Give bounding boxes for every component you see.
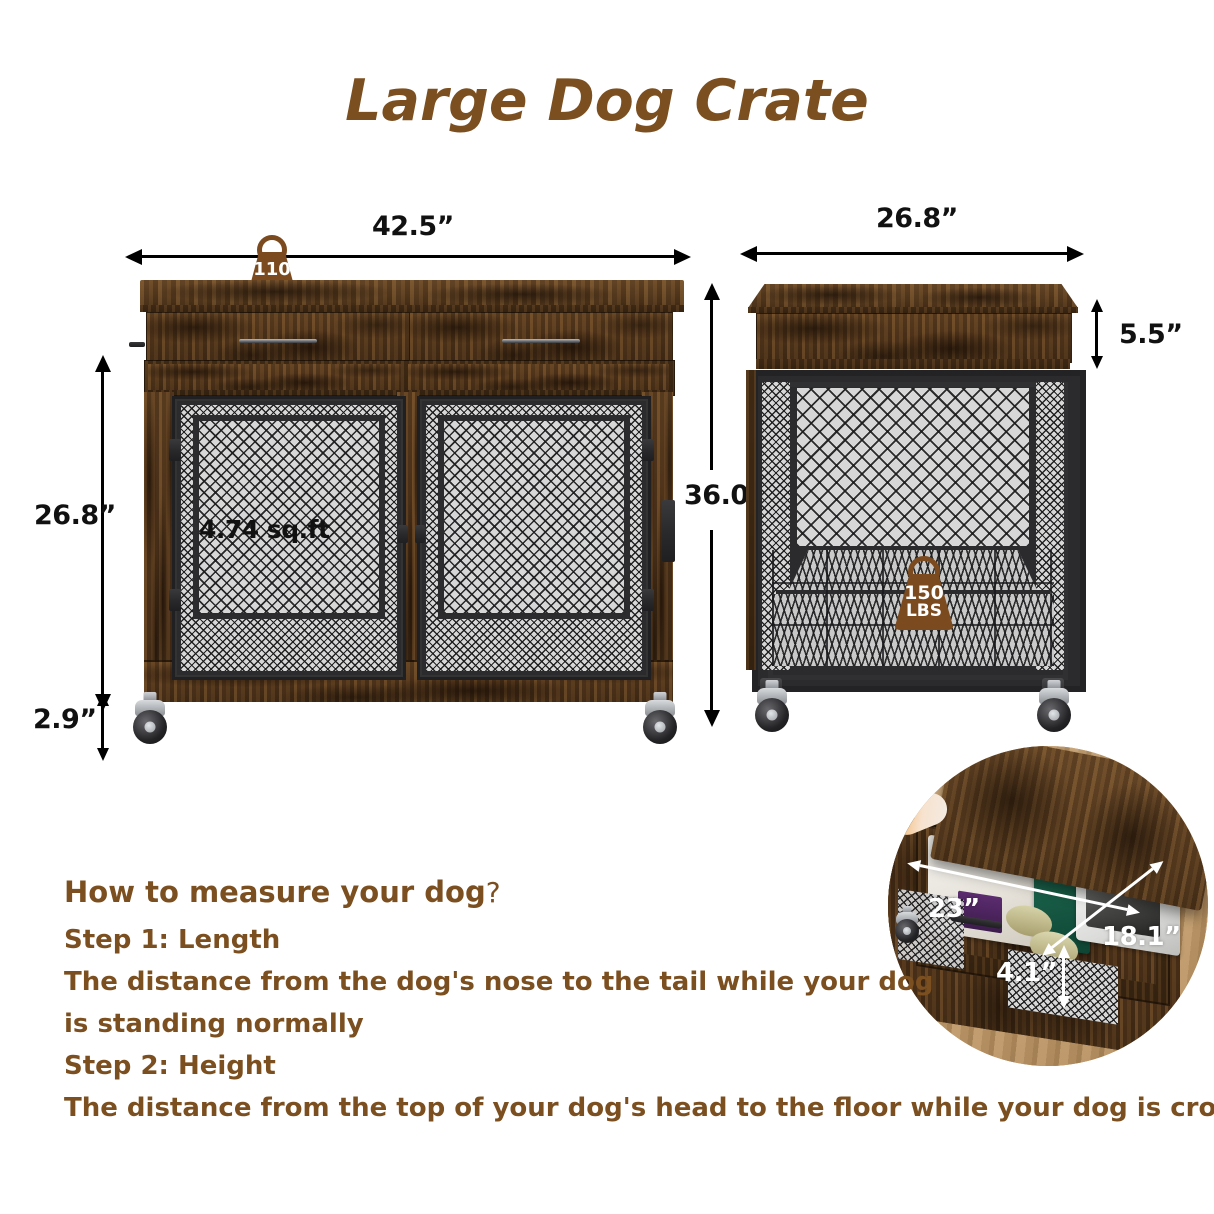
latch-right-icon[interactable] bbox=[415, 525, 425, 543]
side-back-mesh-panel bbox=[797, 388, 1029, 546]
measure-guide-heading-text: How to measure your dog bbox=[64, 875, 486, 909]
weight-body-icon: 150 LBS bbox=[894, 574, 954, 630]
measure-step1-line1: The distance from the dog's nose to the … bbox=[64, 967, 934, 997]
arrow-head-up bbox=[704, 283, 720, 300]
infographic-canvas: Large Dog Crate 42.5” 110 LBS 26.8” 2.9” bbox=[0, 0, 1214, 1214]
side-depth-arrow bbox=[757, 252, 1067, 255]
latch-left-icon[interactable] bbox=[398, 525, 408, 543]
arrow-head-down bbox=[1091, 356, 1103, 369]
shelf-weight-badge: 150 LBS bbox=[894, 574, 954, 630]
front-door-left[interactable]: 4.74 sq.ft bbox=[172, 396, 406, 680]
arrow-head-left bbox=[740, 246, 757, 262]
front-mid-rail-face bbox=[148, 364, 401, 390]
arrow-head-up bbox=[95, 355, 111, 372]
caster-side-left bbox=[752, 680, 792, 736]
inset-height-label: 4.1” bbox=[996, 958, 1057, 988]
arrow-head-left bbox=[125, 249, 142, 265]
front-mid-rail-face-2 bbox=[408, 364, 669, 390]
front-door-right[interactable] bbox=[417, 396, 651, 680]
hinge-top-icon bbox=[169, 439, 181, 461]
inset-length-label: 23” bbox=[928, 894, 980, 924]
side-back-wood-edge bbox=[746, 370, 756, 670]
floor-area-label: 4.74 sq.ft bbox=[199, 515, 330, 544]
measure-step2-line1: The distance from the top of your dog's … bbox=[64, 1093, 1214, 1123]
door-right-mesh-panel bbox=[444, 421, 624, 613]
page-title: Large Dog Crate bbox=[0, 68, 1214, 134]
arrow-head-up bbox=[1091, 299, 1103, 312]
side-depth-label: 26.8” bbox=[876, 203, 958, 234]
drawer-height-label: 5.5” bbox=[1119, 319, 1183, 350]
side-view-crate: 150 LBS bbox=[742, 282, 1086, 714]
measure-guide-heading: How to measure your dog? bbox=[64, 875, 501, 909]
measure-step2-title: Step 2: Height bbox=[64, 1051, 276, 1081]
arrow-head-right bbox=[674, 249, 691, 265]
inset-caster bbox=[892, 906, 922, 946]
front-table-top-edge bbox=[140, 305, 684, 312]
front-drawer-left bbox=[146, 312, 410, 362]
arrow-head-right bbox=[1067, 246, 1084, 262]
hinge-bottom-icon bbox=[169, 589, 181, 611]
caster-side-right bbox=[1034, 680, 1074, 736]
inset-depth-label: 18.1” bbox=[1102, 922, 1181, 952]
side-drawer-face bbox=[756, 313, 1072, 363]
drawer-height-arrow bbox=[1095, 312, 1098, 356]
side-latch-bar-icon[interactable] bbox=[662, 500, 675, 562]
front-drawer-right bbox=[409, 312, 673, 362]
arrow-head-down bbox=[97, 748, 109, 761]
measure-step1-line2: is standing normally bbox=[64, 1009, 364, 1039]
caster-front-left bbox=[130, 692, 170, 748]
front-view-crate: 4.74 sq.ft bbox=[132, 280, 692, 710]
side-hook-icon bbox=[129, 342, 145, 347]
arrow-head-up bbox=[97, 693, 109, 706]
hinge-top-right-icon bbox=[642, 439, 654, 461]
front-width-arrow bbox=[142, 255, 674, 258]
caster-height-label: 2.9” bbox=[33, 704, 97, 735]
drawer-pull-left-icon bbox=[239, 339, 317, 343]
front-left-panel bbox=[144, 392, 174, 680]
measure-guide-heading-mark: ? bbox=[486, 876, 501, 909]
front-height-label: 26.8” bbox=[34, 500, 116, 531]
side-drawer-bottom-edge bbox=[756, 359, 1070, 369]
hinge-bottom-right-icon bbox=[642, 589, 654, 611]
total-height-arrow-lower bbox=[710, 530, 713, 710]
front-width-label: 42.5” bbox=[372, 211, 454, 242]
inset-height-arrow bbox=[1062, 958, 1065, 996]
caster-height-arrow bbox=[101, 706, 104, 748]
total-height-arrow-upper bbox=[710, 300, 713, 470]
drawer-pull-right-icon bbox=[502, 339, 580, 343]
front-height-arrow bbox=[101, 372, 104, 694]
front-table-top bbox=[140, 280, 684, 306]
shelf-weight-unit: LBS bbox=[906, 603, 942, 620]
caster-front-right bbox=[640, 692, 680, 748]
side-table-top bbox=[748, 284, 1078, 308]
arrow-head-down bbox=[704, 710, 720, 727]
measure-step1-title: Step 1: Length bbox=[64, 925, 280, 955]
drawer-detail-inset: 23” 18.1” 4.1” bbox=[888, 746, 1208, 1066]
